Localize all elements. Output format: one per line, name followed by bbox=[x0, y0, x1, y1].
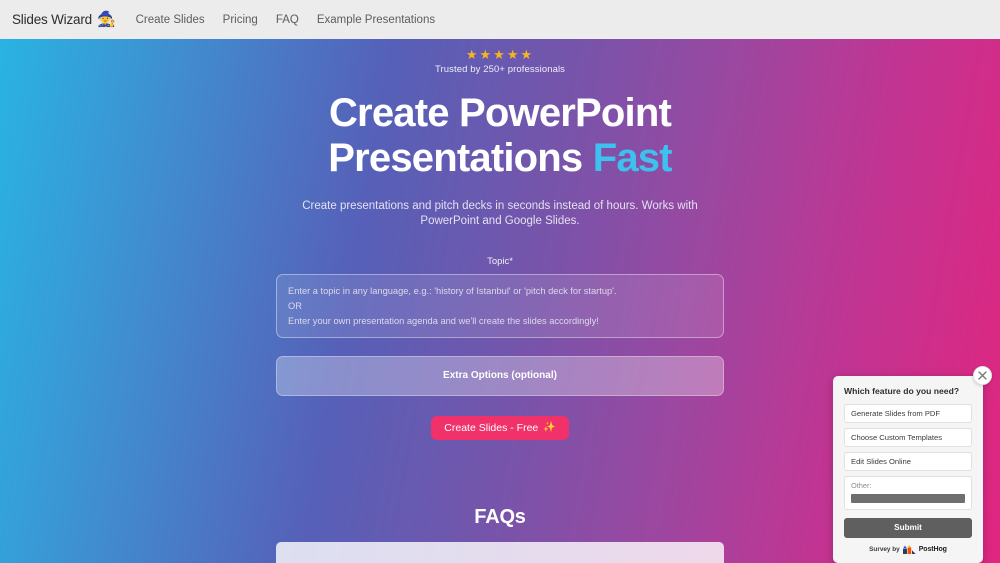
trust-text: Trusted by 250+ professionals bbox=[0, 64, 1000, 75]
brand-logo[interactable]: Slides Wizard 🧙 bbox=[12, 12, 116, 27]
faq-panel[interactable] bbox=[276, 542, 724, 563]
cta-row: Create Slides - Free ✨ bbox=[276, 416, 724, 440]
survey-footer: Survey by PostHog bbox=[844, 545, 972, 554]
posthog-logo-icon bbox=[903, 545, 916, 554]
survey-choice-label: Choose Custom Templates bbox=[851, 433, 942, 442]
topic-placeholder-line-3: Enter your own presentation agenda and w… bbox=[288, 314, 712, 329]
survey-question: Which feature do you need? bbox=[844, 386, 972, 396]
extra-options-label: Extra Options (optional) bbox=[443, 370, 557, 381]
survey-popup: Which feature do you need? Generate Slid… bbox=[833, 376, 983, 563]
wizard-icon: 🧙 bbox=[97, 12, 116, 27]
star-rating-icon: ★★★★★ bbox=[0, 48, 1000, 62]
survey-choice-choose-custom-templates[interactable]: Choose Custom Templates bbox=[844, 428, 972, 447]
create-slides-button[interactable]: Create Slides - Free ✨ bbox=[431, 416, 568, 440]
slide-request-form: Topic* Enter a topic in any language, e.… bbox=[276, 256, 724, 440]
topic-placeholder-line-2: OR bbox=[288, 299, 712, 314]
top-navbar: Slides Wizard 🧙 Create Slides Pricing FA… bbox=[0, 0, 1000, 39]
create-slides-label: Create Slides - Free bbox=[444, 422, 538, 434]
nav-links: Create Slides Pricing FAQ Example Presen… bbox=[136, 14, 435, 26]
brand-name: Slides Wizard bbox=[12, 12, 92, 27]
topic-placeholder-line-1: Enter a topic in any language, e.g.: 'hi… bbox=[288, 284, 712, 299]
posthog-brand-name: PostHog bbox=[919, 546, 947, 553]
hero-subtitle: Create presentations and pitch decks in … bbox=[280, 199, 720, 230]
headline-accent-word: Fast bbox=[593, 136, 672, 180]
headline-line-2: Presentations bbox=[328, 136, 582, 180]
survey-by-label: Survey by bbox=[869, 546, 900, 553]
extra-options-button[interactable]: Extra Options (optional) bbox=[276, 356, 724, 396]
nav-link-faq[interactable]: FAQ bbox=[276, 14, 299, 26]
survey-choice-generate-slides-from-pdf[interactable]: Generate Slides from PDF bbox=[844, 404, 972, 423]
headline-line-1: Create PowerPoint bbox=[329, 91, 671, 135]
survey-submit-button[interactable]: Submit bbox=[844, 518, 972, 538]
topic-input[interactable]: Enter a topic in any language, e.g.: 'hi… bbox=[276, 274, 724, 338]
survey-other-option[interactable]: Other: bbox=[844, 476, 972, 510]
topic-field-label: Topic* bbox=[276, 256, 724, 267]
close-icon[interactable] bbox=[973, 366, 992, 385]
page-title: Create PowerPoint Presentations Fast bbox=[0, 91, 1000, 181]
survey-choice-edit-slides-online[interactable]: Edit Slides Online bbox=[844, 452, 972, 471]
sparkles-icon: ✨ bbox=[543, 423, 555, 433]
survey-choice-label: Generate Slides from PDF bbox=[851, 409, 940, 418]
nav-link-pricing[interactable]: Pricing bbox=[223, 14, 258, 26]
survey-choice-label: Edit Slides Online bbox=[851, 457, 911, 466]
nav-link-example-presentations[interactable]: Example Presentations bbox=[317, 14, 435, 26]
survey-other-input[interactable] bbox=[851, 494, 965, 503]
survey-other-label: Other: bbox=[851, 481, 965, 490]
nav-link-create-slides[interactable]: Create Slides bbox=[136, 14, 205, 26]
